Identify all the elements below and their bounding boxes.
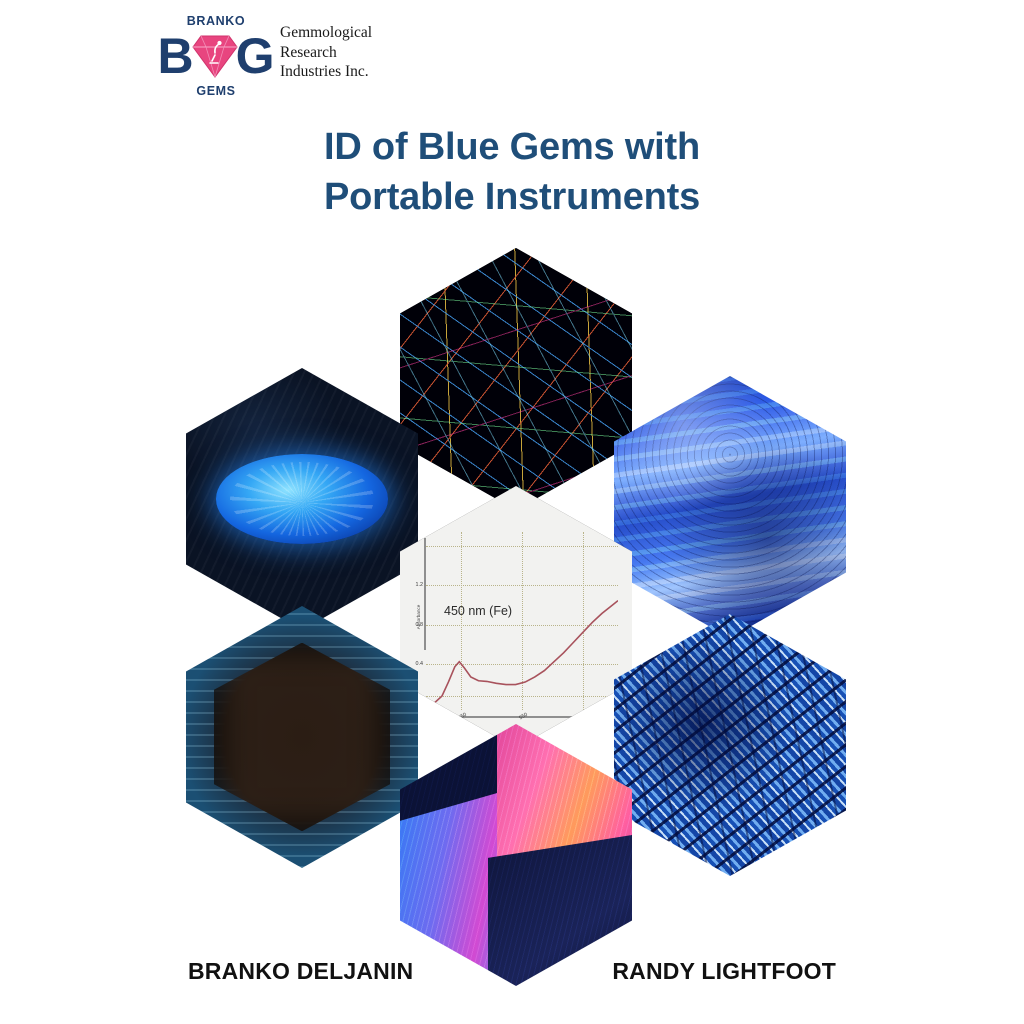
cover-title: ID of Blue Gems with Portable Instrument… (0, 122, 1024, 222)
company-name-line-1: Gemmological (280, 23, 372, 43)
fracture-mosaic-image (614, 614, 846, 876)
book-cover: BRANKO B (0, 0, 1024, 1024)
hex-spectrum-chart: Absorbance 1.2 0.8 0.4 (400, 486, 632, 748)
company-name: Gemmological Research Industries Inc. (280, 14, 372, 82)
rutile-needles-image (400, 248, 632, 510)
hex-growth-core (186, 606, 418, 868)
chart-y-tick-3: 0.4 (416, 661, 424, 667)
author-right: RANDY LIGHTFOOT (612, 958, 836, 985)
hex-blue-gem-uv (186, 368, 418, 630)
logo-letter-g: G (236, 32, 275, 80)
branko-gems-logo: BRANKO B (168, 14, 264, 106)
chart-inner: Absorbance 1.2 0.8 0.4 (400, 486, 632, 748)
hex-fracture-mosaic (614, 614, 846, 876)
diamond-microscope-icon (189, 32, 241, 80)
logo-middle-row: B (168, 29, 264, 83)
twin-plane-striae (400, 724, 632, 986)
chart-y-tick-2: 0.8 (416, 622, 424, 628)
logo-top-text: BRANKO (168, 14, 264, 28)
chart-x-tick-2: 550 (518, 712, 528, 722)
logo-bottom-text: GEMS (168, 84, 264, 98)
chart-annotation-450nm: 450 nm (Fe) (444, 604, 512, 618)
chart-y-tick-1: 1.2 (416, 582, 424, 588)
spectrum-chart: Absorbance 1.2 0.8 0.4 (400, 486, 632, 748)
glowing-oval-gem (216, 454, 388, 543)
hex-colour-zoning (614, 376, 846, 638)
blue-gem-uv-image (186, 368, 418, 630)
publisher-header: BRANKO B (168, 14, 372, 106)
author-left: BRANKO DELJANIN (188, 958, 413, 985)
hexagon-photo-collage: Absorbance 1.2 0.8 0.4 (180, 248, 852, 928)
cover-title-line-1: ID of Blue Gems with (324, 126, 700, 168)
chart-plot-area: 1.2 0.8 0.4 450 550 (426, 532, 618, 710)
hex-twin-planes (400, 724, 632, 986)
company-name-line-2: Research (280, 43, 372, 63)
chart-x-tick-1: 450 (457, 712, 467, 722)
twin-planes-image (400, 724, 632, 986)
author-row: BRANKO DELJANIN RANDY LIGHTFOOT (0, 958, 1024, 985)
cover-title-line-2: Portable Instruments (0, 172, 1024, 222)
hex-rutile-needles (400, 248, 632, 510)
colour-zoning-image (614, 376, 846, 638)
spectrum-curve (426, 532, 618, 710)
growth-zoning-core-image (186, 606, 418, 868)
company-name-line-3: Industries Inc. (280, 62, 372, 82)
